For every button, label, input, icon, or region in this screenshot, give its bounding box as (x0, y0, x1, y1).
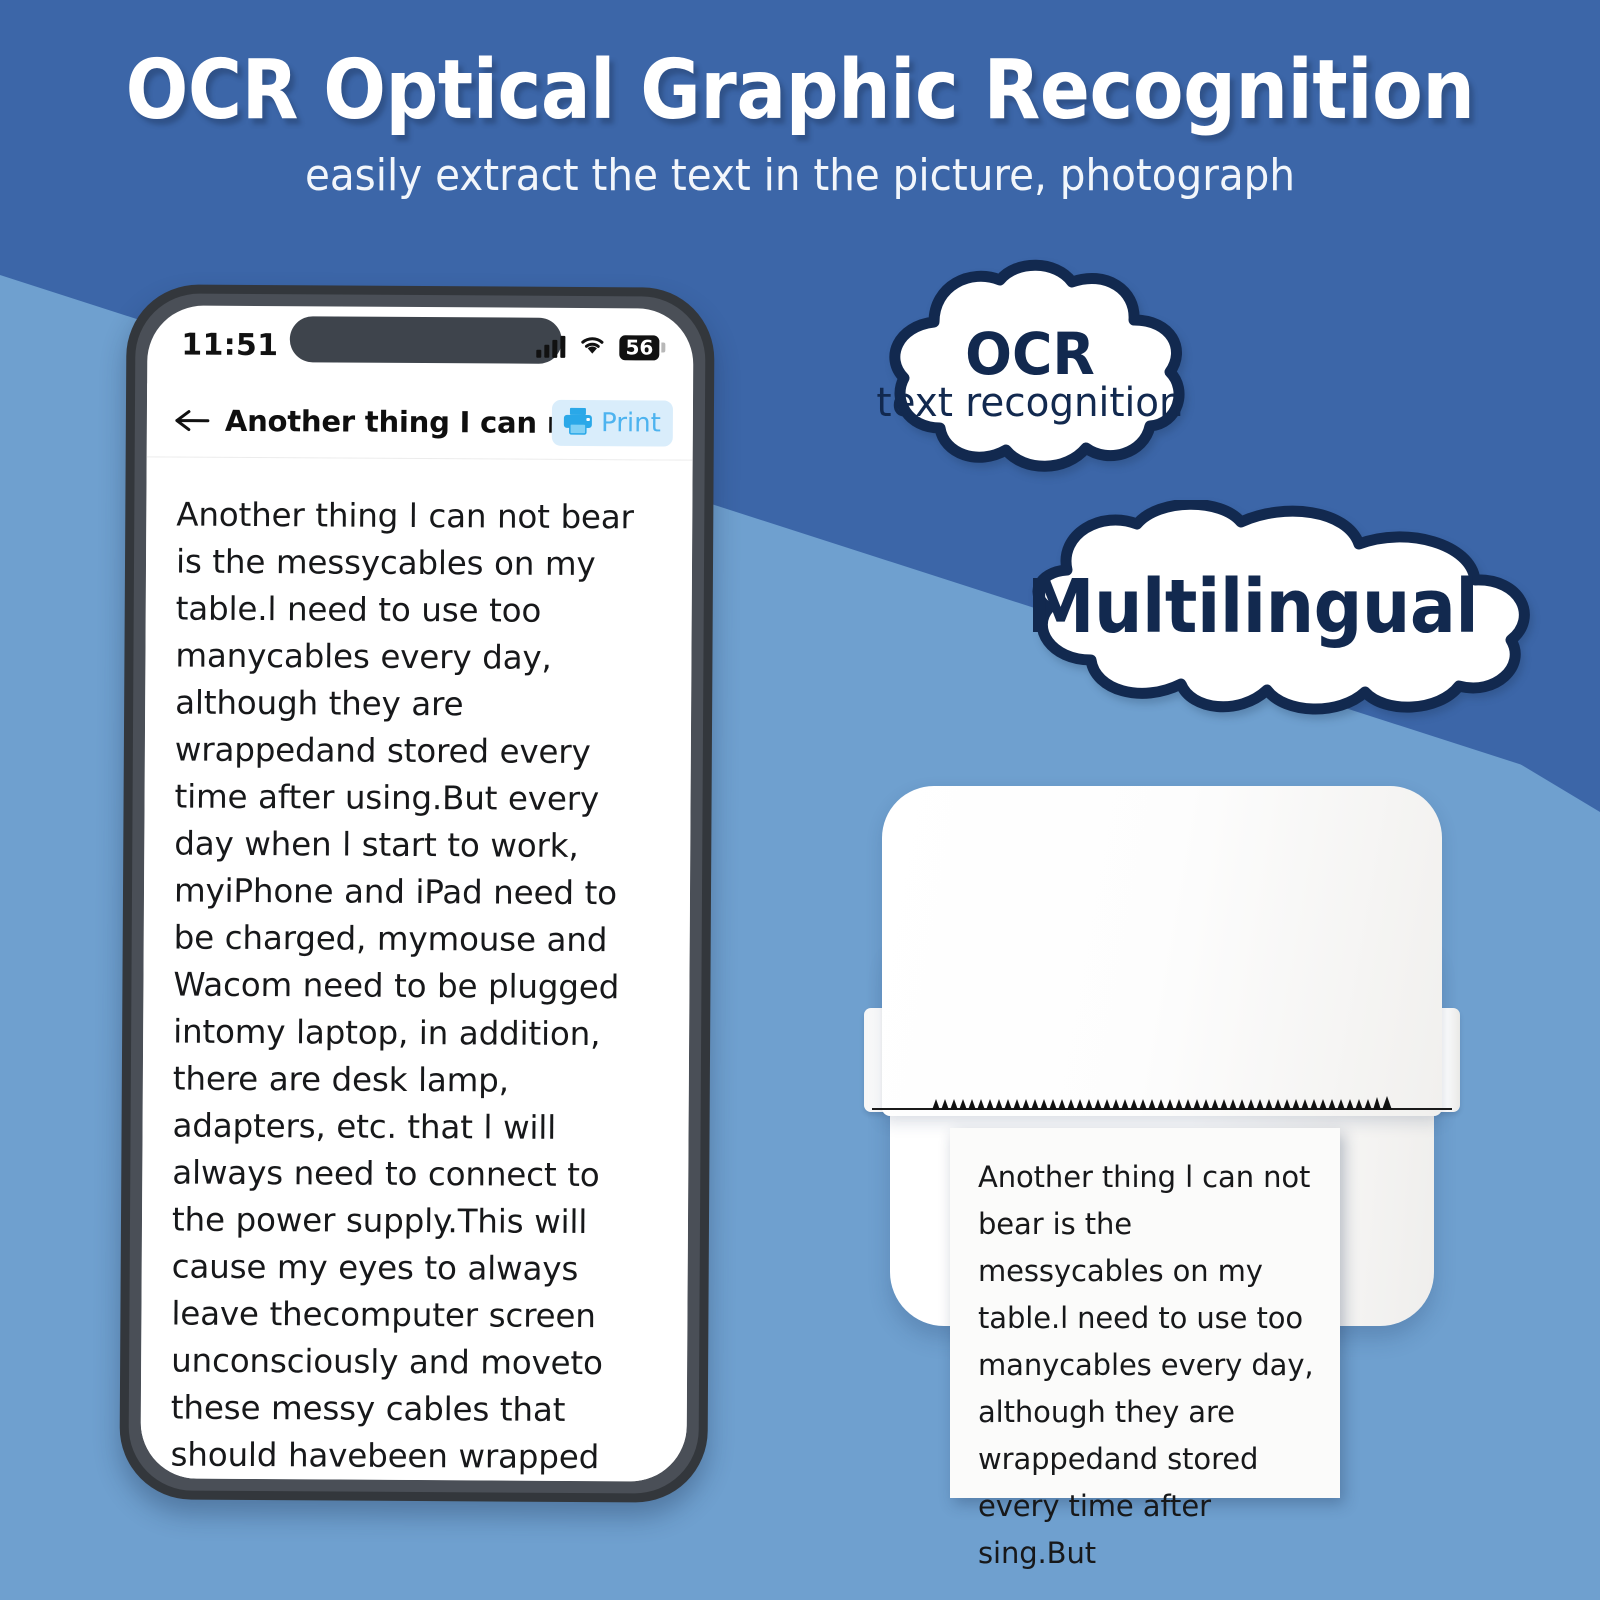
poster-header: OCR Optical Graphic Recognition easily e… (0, 0, 1600, 240)
app-nav-bar: Another thing I can not bear i... Print (147, 383, 693, 460)
document-title: Another thing I can not bear i... (225, 403, 552, 439)
status-bar-time: 11:51 (181, 327, 278, 363)
poster-canvas: OCR Optical Graphic Recognition easily e… (0, 0, 1600, 1600)
multilingual-cloud-badge: Multilingual (955, 500, 1550, 715)
serrated-tear-edge-icon (932, 1095, 1398, 1110)
phone-notch (290, 316, 562, 364)
cloud-shape-icon (860, 258, 1200, 478)
back-arrow-icon[interactable] (171, 399, 213, 441)
battery-icon: 56 (619, 335, 659, 360)
document-body[interactable]: Another thing l can not bear is the mess… (140, 457, 692, 1481)
print-button-label: Print (601, 408, 661, 438)
page-subtitle: easily extract the text in the picture, … (64, 134, 1536, 201)
print-button[interactable]: Print (552, 399, 673, 446)
document-paragraph: Another thing l can not bear is the mess… (169, 492, 666, 1482)
printed-paper: Another thing l can not bear is the mess… (950, 1128, 1340, 1498)
ocr-cloud-badge: OCR text recognition (860, 258, 1200, 478)
phone-mockup: 11:51 56 (119, 284, 714, 1503)
printed-paper-text: Another thing l can not bear is the mess… (978, 1154, 1318, 1577)
phone-screen: 11:51 56 (140, 305, 693, 1481)
wifi-icon (578, 334, 606, 360)
page-title: OCR Optical Graphic Recognition (80, 0, 1520, 134)
printer-upper-body (882, 786, 1442, 1116)
printer-icon (562, 405, 594, 439)
cloud-shape-icon (955, 500, 1550, 715)
